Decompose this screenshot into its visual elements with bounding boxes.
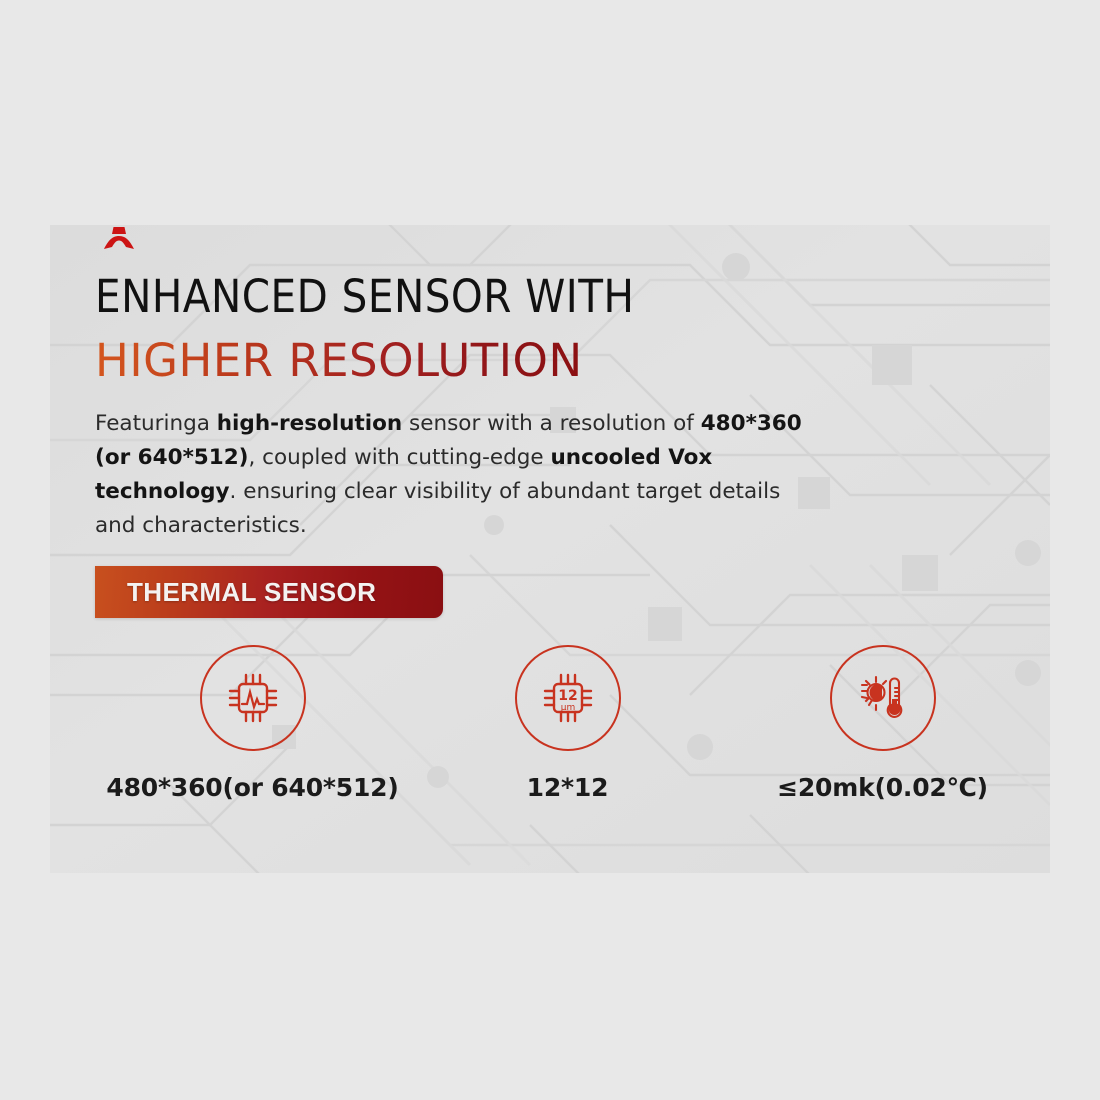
chip-icon-value-bottom: μm xyxy=(560,703,575,713)
spec-item-pixel-pitch: 12 μm 12*12 xyxy=(410,645,725,802)
spec-item-sensitivity: ≤20mk(0.02℃) xyxy=(725,645,1040,802)
spec-item-resolution: 480*360(or 640*512) xyxy=(95,645,410,802)
mountain-peak-logo-icon xyxy=(96,225,142,259)
thermal-sensor-banner-label: THERMAL SENSOR xyxy=(127,577,376,608)
thermal-sensor-banner: THERMAL SENSOR xyxy=(95,566,443,618)
page-title-line-1: ENHANCED SENSOR WITH xyxy=(95,271,634,323)
spec-label-pixel-pitch: 12*12 xyxy=(527,773,609,802)
spec-row: 480*360(or 640*512) xyxy=(50,645,1050,802)
page-title-line-2: HIGHER RESOLUTION xyxy=(95,335,583,387)
body-text-part-2: sensor with a resolution of xyxy=(402,411,701,436)
spec-label-sensitivity: ≤20mk(0.02℃) xyxy=(777,773,988,802)
body-bold-high-resolution: high-resolution xyxy=(217,411,402,436)
spec-circle-sensitivity xyxy=(830,645,936,751)
spec-circle-resolution xyxy=(200,645,306,751)
body-paragraph: Featuringa high-resolution sensor with a… xyxy=(95,407,825,543)
chip-icon-value-top: 12 xyxy=(558,688,577,704)
product-feature-card: ENHANCED SENSOR WITH HIGHER RESOLUTION F… xyxy=(50,225,1050,873)
body-text-part-3: , coupled with cutting-edge xyxy=(249,445,551,470)
sun-thermometer-icon xyxy=(854,669,912,727)
spec-label-resolution: 480*360(or 640*512) xyxy=(106,773,398,802)
chip-waveform-icon xyxy=(224,669,282,727)
spec-circle-pixel-pitch: 12 μm xyxy=(515,645,621,751)
chip-12um-icon: 12 μm xyxy=(539,669,597,727)
body-text-part-1: Featuringa xyxy=(95,411,217,436)
